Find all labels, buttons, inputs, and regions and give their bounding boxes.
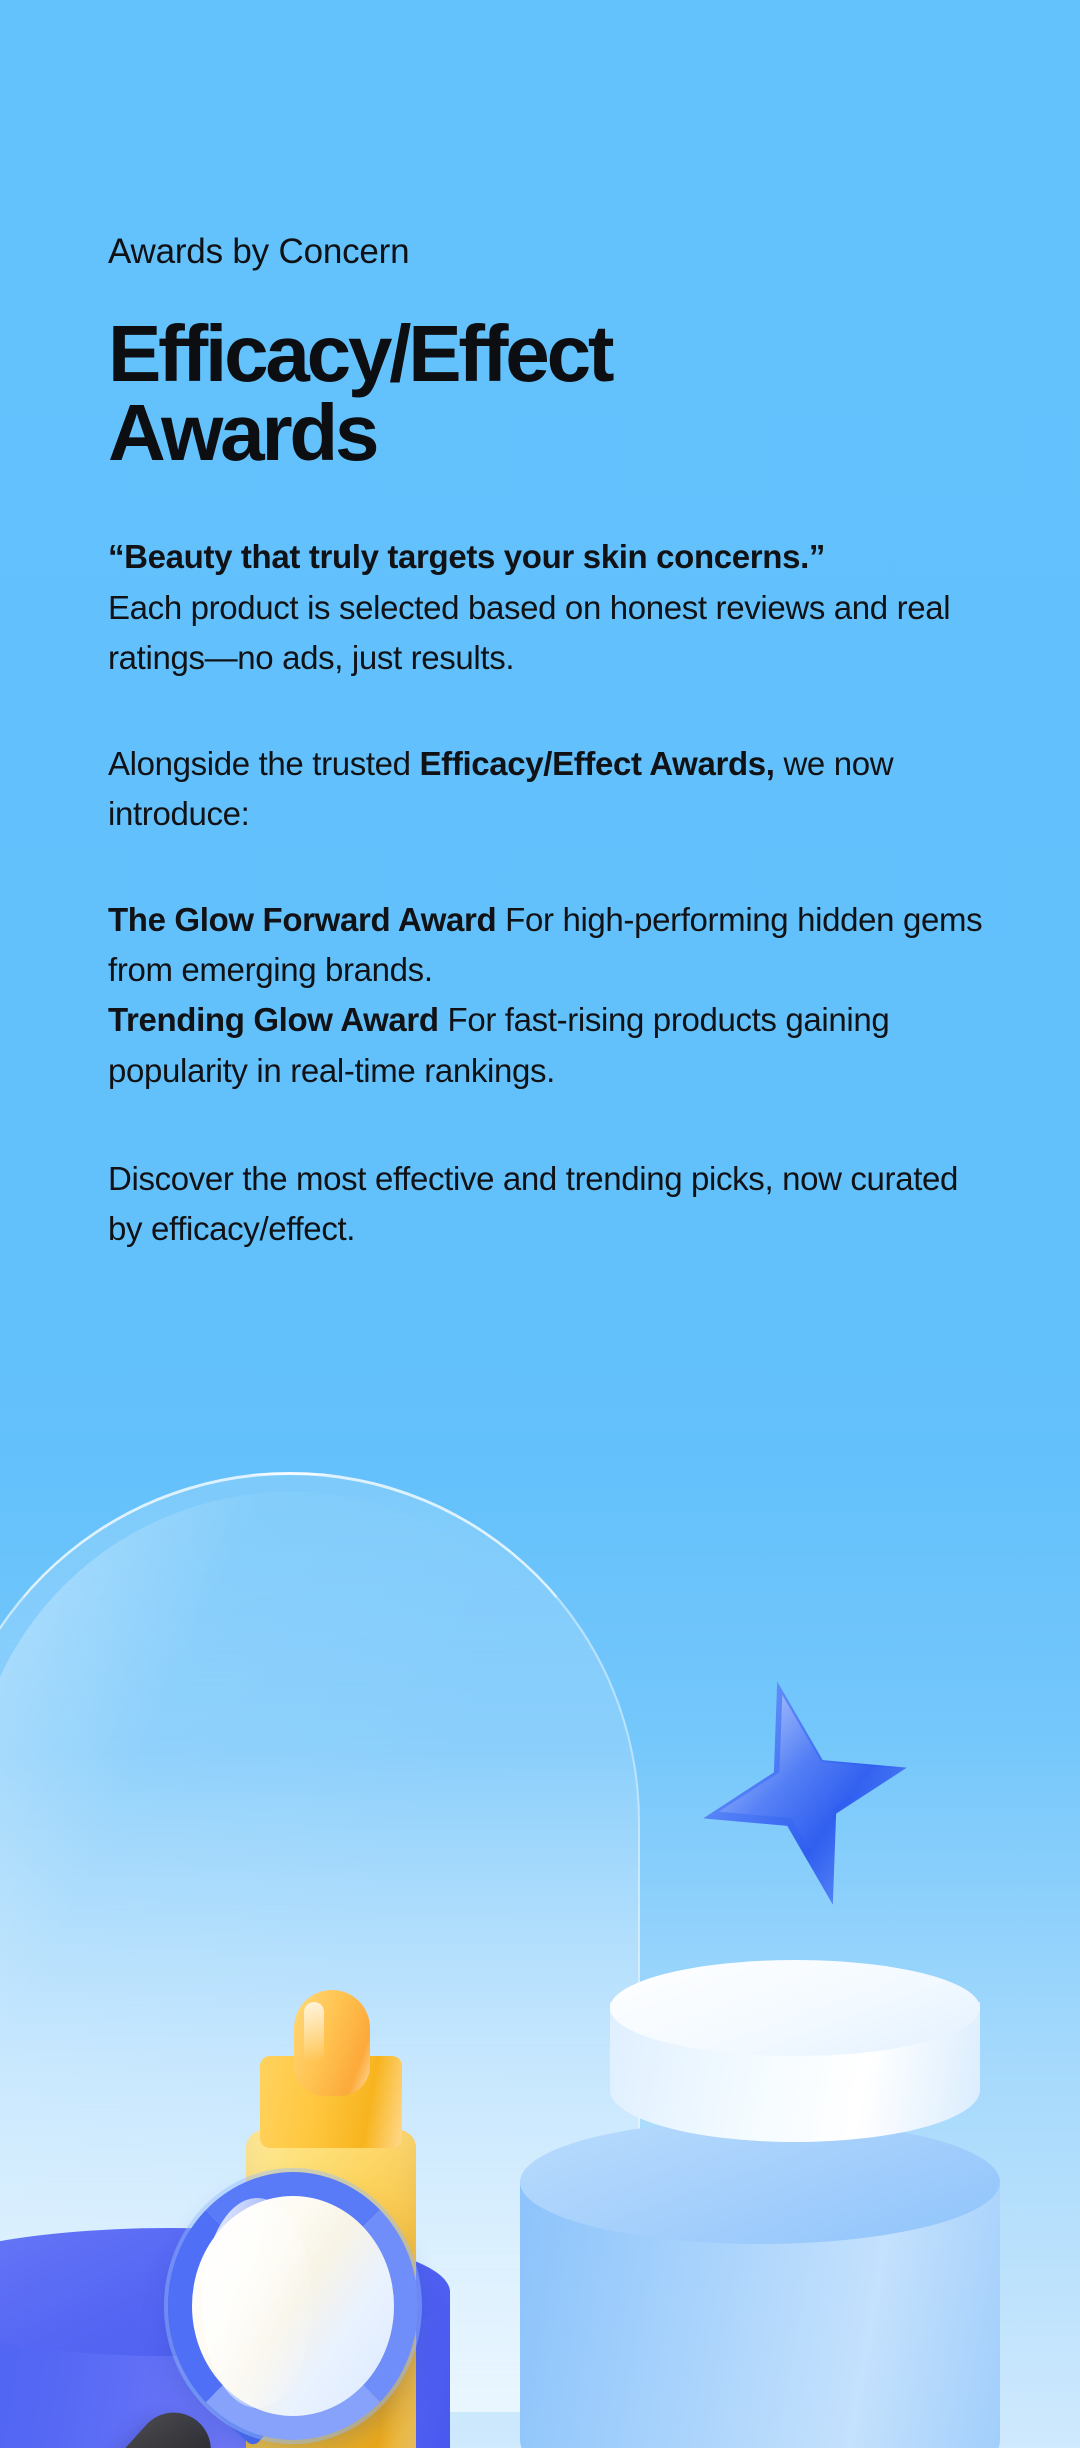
page-title: Efficacy/Effect Awards [108,314,988,472]
paragraph-quote: “Beauty that truly targets your skin con… [108,532,988,682]
quote-body-text: Each product is selected based on honest… [108,589,950,676]
product-illustration [0,1430,1080,2448]
magnifying-glass-icon [130,2172,450,2448]
quote-bold-text: “Beauty that truly targets your skin con… [108,538,825,575]
magnifier-lens-gloss [202,2198,312,2408]
headline-line-1: Efficacy/Effect [108,309,611,398]
eyebrow-label: Awards by Concern [108,232,988,272]
paragraph-alongside: Alongside the trusted Efficacy/Effect Aw… [108,739,988,839]
headline-line-2: Awards [108,388,376,477]
alongside-prefix: Alongside the trusted [108,745,420,782]
alongside-bold: Efficacy/Effect Awards, [420,745,775,782]
award-1-name: The Glow Forward Award [108,901,496,938]
copy-block: Awards by Concern Efficacy/Effect Awards… [108,0,988,1254]
paragraph-new-awards: The Glow Forward Award For high-performi… [108,895,988,1096]
bulb-gloss-highlight [304,2002,324,2062]
award-2-name: Trending Glow Award [108,1001,439,1038]
white-disc [610,1960,980,2185]
disc-top [610,1960,980,2056]
paragraph-discover: Discover the most effective and trending… [108,1154,988,1254]
promo-banner: Awards by Concern Efficacy/Effect Awards… [0,0,1080,2448]
